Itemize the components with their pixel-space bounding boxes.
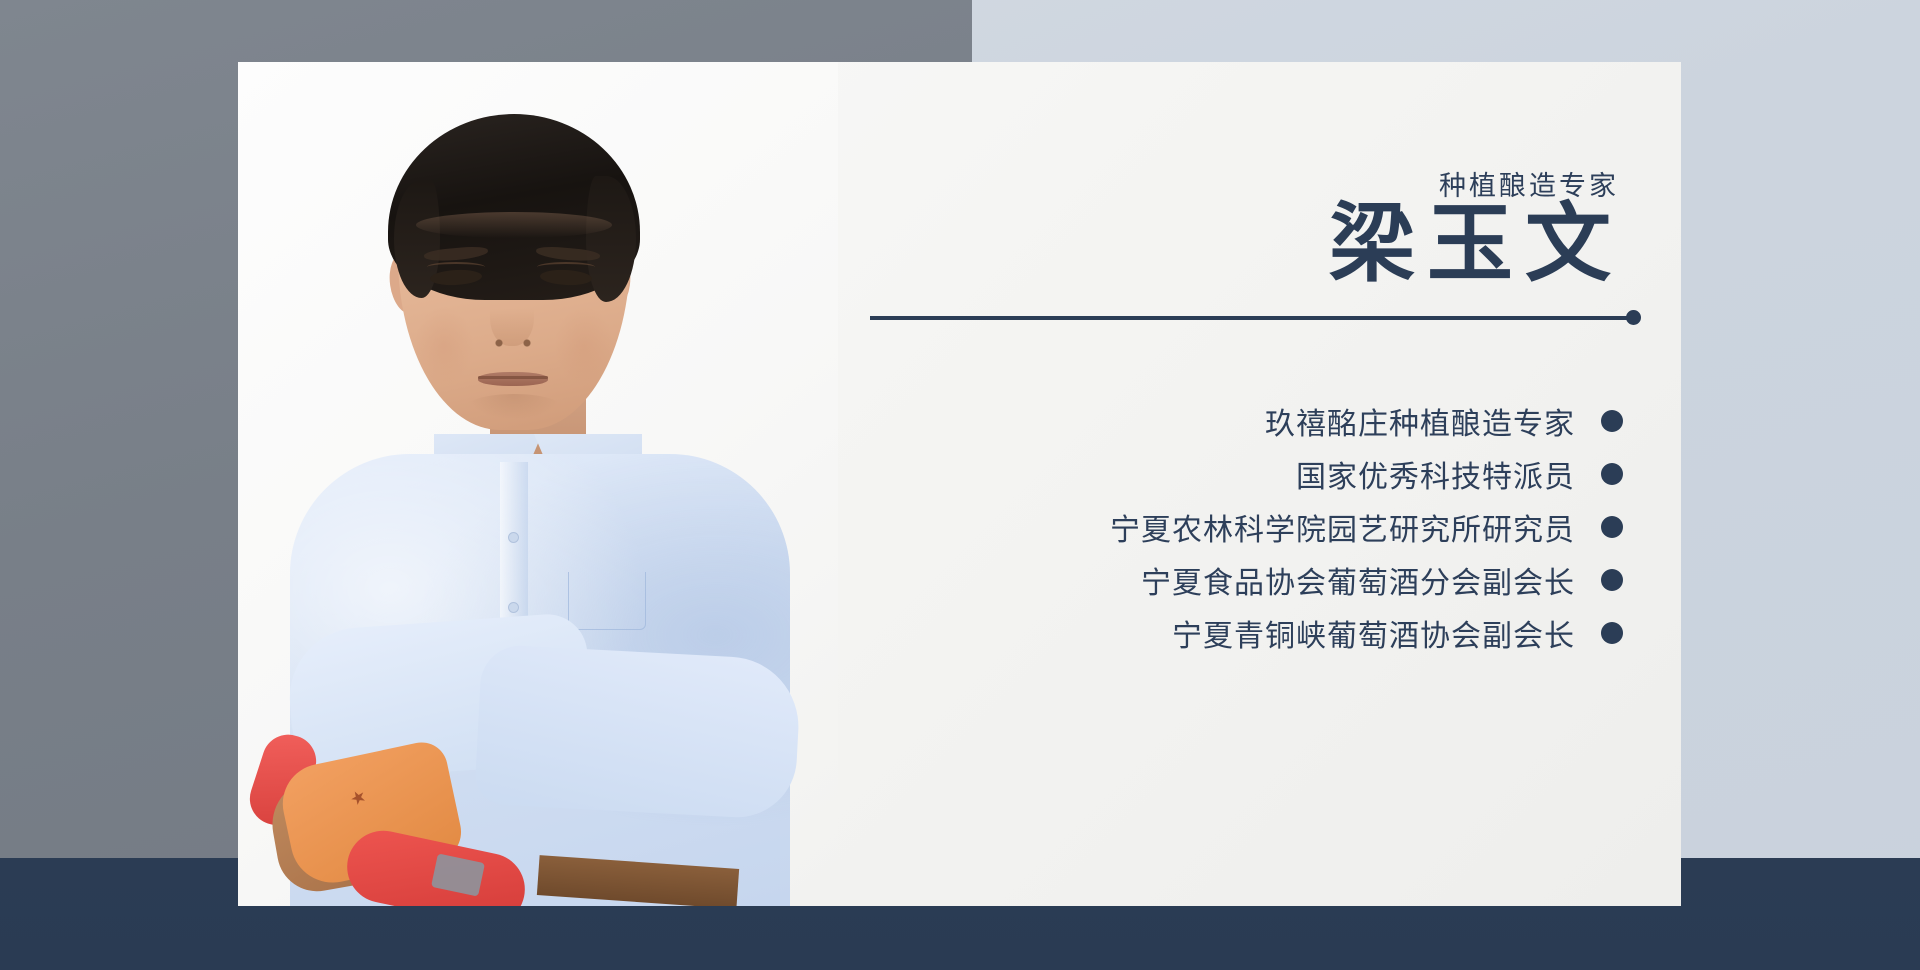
list-item: 国家优秀科技特派员 [863,447,1623,500]
person-figure: ★ [238,62,838,906]
divider-end-dot [1626,310,1641,325]
forehead-shading [416,212,612,238]
profile-text-column: 种植酿造专家 梁玉文 玖禧酩庄种植酿造专家 国家优秀科技特派员 宁夏农林科学院园… [858,62,1681,906]
list-item: 宁夏食品协会葡萄酒分会副会长 [863,553,1623,606]
bullet-dot-icon [1601,569,1623,591]
bullet-dot-icon [1601,463,1623,485]
arm-right-shape [474,644,802,821]
cheek-right-shading [554,306,614,386]
credentials-list: 玖禧酩庄种植酿造专家 国家优秀科技特派员 宁夏农林科学院园艺研究所研究员 宁夏食… [863,394,1623,659]
credential-label: 宁夏食品协会葡萄酒分会副会长 [1141,558,1575,602]
poster-stage: ★ 种植酿造专家 梁玉文 玖禧酩庄种植酿造专家 国家优秀科技特派员 [0,0,1920,970]
cheek-left-shading [414,306,474,386]
divider-line [870,316,1634,320]
profile-name: 梁玉文 [1317,198,1623,291]
credential-label: 国家优秀科技特派员 [1296,452,1575,496]
shirt-button [508,532,519,543]
credential-label: 玖禧酩庄种植酿造专家 [1265,399,1575,443]
list-item: 宁夏青铜峡葡萄酒协会副会长 [863,606,1623,659]
bullet-dot-icon [1601,516,1623,538]
credential-label: 宁夏农林科学院园艺研究所研究员 [1110,505,1575,549]
portrait-photo: ★ [238,62,838,906]
hair-shape [388,114,640,300]
shirt-pocket [568,572,646,630]
list-item: 玖禧酩庄种植酿造专家 [863,394,1623,447]
shirt-button [508,602,519,613]
credential-label: 宁夏青铜峡葡萄酒协会副会长 [1172,611,1575,655]
profile-card: ★ 种植酿造专家 梁玉文 玖禧酩庄种植酿造专家 国家优秀科技特派员 [238,62,1681,906]
nostrils-shape [488,338,538,348]
bullet-dot-icon [1601,622,1623,644]
mouth-shape [478,372,548,386]
bullet-dot-icon [1601,410,1623,432]
chin-shading [466,394,562,420]
mouth-line-shape [478,376,548,379]
nose-shape [490,284,534,346]
list-item: 宁夏农林科学院园艺研究所研究员 [863,500,1623,553]
